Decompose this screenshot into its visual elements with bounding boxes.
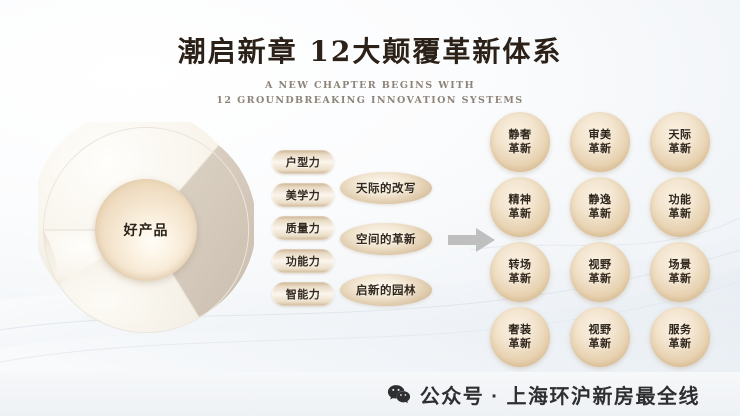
innovation-bubble-line1: 静逸 bbox=[589, 193, 612, 207]
capability-pill-list: 户型力 美学力 质量力 功能力 智能力 bbox=[272, 150, 334, 306]
innovation-bubble-line2: 革新 bbox=[589, 207, 612, 221]
innovation-bubble[interactable]: 视野 革新 bbox=[570, 242, 630, 302]
capability-pill[interactable]: 功能力 bbox=[272, 249, 334, 273]
innovation-bubble[interactable]: 转场 革新 bbox=[490, 242, 550, 302]
theme-ellipse-label: 启新的园林 bbox=[356, 282, 416, 298]
innovation-bubble-line1: 天际 bbox=[669, 128, 692, 142]
innovation-bubble-line2: 革新 bbox=[589, 272, 612, 286]
innovation-bubble-line2: 革新 bbox=[669, 272, 692, 286]
innovation-bubble-line2: 革新 bbox=[669, 207, 692, 221]
innovation-bubble-line2: 革新 bbox=[509, 142, 532, 156]
page-title: 潮启新章 12大颠覆革新体系 bbox=[0, 30, 740, 70]
capability-pill[interactable]: 美学力 bbox=[272, 183, 334, 207]
capability-pill[interactable]: 智能力 bbox=[272, 282, 334, 306]
innovation-bubble[interactable]: 审美 革新 bbox=[570, 112, 630, 172]
innovation-bubble[interactable]: 天际 革新 bbox=[650, 112, 710, 172]
innovation-bubble-line2: 革新 bbox=[669, 142, 692, 156]
innovation-bubble-line1: 审美 bbox=[589, 128, 612, 142]
page-subtitle-line1: A NEW CHAPTER BEGINS WITH bbox=[0, 78, 740, 93]
theme-ellipse-list: 天际的改写 空间的革新 启新的园林 bbox=[340, 172, 432, 306]
capability-pill-label: 智能力 bbox=[286, 286, 321, 302]
innovation-bubble[interactable]: 功能 革新 bbox=[650, 177, 710, 237]
innovation-bubble-line1: 视野 bbox=[589, 258, 612, 272]
wechat-icon bbox=[387, 384, 411, 404]
capability-pill-label: 美学力 bbox=[286, 187, 321, 203]
slide-canvas: 潮启新章 12大颠覆革新体系 A NEW CHAPTER BEGINS WITH… bbox=[0, 0, 740, 416]
innovation-bubble[interactable]: 视野 革新 bbox=[570, 307, 630, 367]
innovation-bubble-line2: 革新 bbox=[589, 337, 612, 351]
innovation-bubble-line2: 革新 bbox=[509, 207, 532, 221]
innovation-bubble-line1: 精神 bbox=[509, 193, 532, 207]
capability-pill-label: 质量力 bbox=[286, 220, 321, 236]
arrow-right-icon bbox=[448, 227, 496, 253]
innovation-bubble-line1: 场景 bbox=[669, 258, 692, 272]
page-subtitle-line2: 12 GROUNDBREAKING INNOVATION SYSTEMS bbox=[0, 93, 740, 108]
donut-core-label: 好产品 bbox=[124, 220, 169, 240]
theme-ellipse-label: 天际的改写 bbox=[356, 180, 416, 196]
innovation-bubble-line2: 革新 bbox=[589, 142, 612, 156]
footer-content: 公众号 · 上海环沪新房最全线 bbox=[387, 380, 700, 409]
innovation-bubble-line1: 功能 bbox=[669, 193, 692, 207]
innovation-bubble-line1: 服务 bbox=[669, 323, 692, 337]
theme-ellipse[interactable]: 空间的革新 bbox=[340, 223, 432, 255]
capability-pill-label: 户型力 bbox=[286, 154, 321, 170]
innovation-bubble-line1: 转场 bbox=[509, 258, 532, 272]
capability-pill[interactable]: 质量力 bbox=[272, 216, 334, 240]
innovation-grid: 静奢 革新 审美 革新 天际 革新 精神 革新 静逸 革新 功能 革新 转场 革… bbox=[490, 112, 720, 372]
donut-diagram: 好产品 bbox=[38, 122, 254, 338]
capability-pill-label: 功能力 bbox=[286, 253, 321, 269]
innovation-bubble-line2: 革新 bbox=[509, 337, 532, 351]
footer-account-text: 公众号 · 上海环沪新房最全线 bbox=[420, 380, 700, 409]
capability-pill[interactable]: 户型力 bbox=[272, 150, 334, 174]
innovation-bubble-line1: 奢装 bbox=[509, 323, 532, 337]
innovation-bubble[interactable]: 静奢 革新 bbox=[490, 112, 550, 172]
innovation-bubble[interactable]: 场景 革新 bbox=[650, 242, 710, 302]
innovation-bubble-line2: 革新 bbox=[509, 272, 532, 286]
innovation-bubble-line2: 革新 bbox=[669, 337, 692, 351]
page-subtitle: A NEW CHAPTER BEGINS WITH 12 GROUNDBREAK… bbox=[0, 78, 740, 108]
innovation-bubble-line1: 静奢 bbox=[509, 128, 532, 142]
footer-bar: 公众号 · 上海环沪新房最全线 bbox=[0, 372, 740, 416]
theme-ellipse-label: 空间的革新 bbox=[356, 231, 416, 247]
innovation-bubble-line1: 视野 bbox=[589, 323, 612, 337]
theme-ellipse[interactable]: 天际的改写 bbox=[340, 172, 432, 204]
innovation-bubble[interactable]: 静逸 革新 bbox=[570, 177, 630, 237]
page-title-block: 潮启新章 12大颠覆革新体系 A NEW CHAPTER BEGINS WITH… bbox=[0, 30, 740, 108]
innovation-bubble[interactable]: 精神 革新 bbox=[490, 177, 550, 237]
innovation-bubble[interactable]: 奢装 革新 bbox=[490, 307, 550, 367]
donut-core: 好产品 bbox=[95, 179, 197, 281]
theme-ellipse[interactable]: 启新的园林 bbox=[340, 274, 432, 306]
innovation-bubble[interactable]: 服务 革新 bbox=[650, 307, 710, 367]
